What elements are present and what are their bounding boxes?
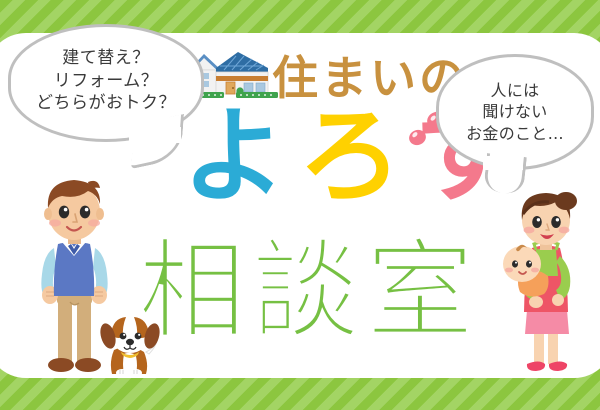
dot-highlight (411, 132, 418, 139)
dog-illustration (100, 312, 162, 378)
bubble-left-line-1: 建て替え？ (62, 47, 150, 69)
bubble-tail-mask (483, 156, 523, 170)
title-main-char-1: よ (182, 95, 298, 217)
question-bubble-left: 建て替え？ リフォーム？ どちらがおトク？ (8, 24, 204, 142)
bubble-right-line-3: お金のこと… (466, 123, 564, 144)
bubble-left-line-2: リフォーム？ (54, 70, 159, 92)
bubble-left-line-3: どちらがおトク？ (36, 92, 176, 114)
title-sub: 相談室 (138, 238, 480, 346)
bubble-tail-mask (129, 127, 181, 143)
woman-with-baby-illustration (494, 192, 586, 378)
banner-root: 住まいの よろす 相談室 建て替え？ リフォーム？ どちらがおトク？ 人には 聞… (0, 0, 600, 410)
title-main-char-2: ろ (298, 95, 414, 217)
bubble-right-line-1: 人には (491, 80, 540, 101)
question-bubble-right: 人には 聞けない お金のこと… (436, 54, 594, 170)
bubble-right-line-2: 聞けない (482, 101, 547, 122)
